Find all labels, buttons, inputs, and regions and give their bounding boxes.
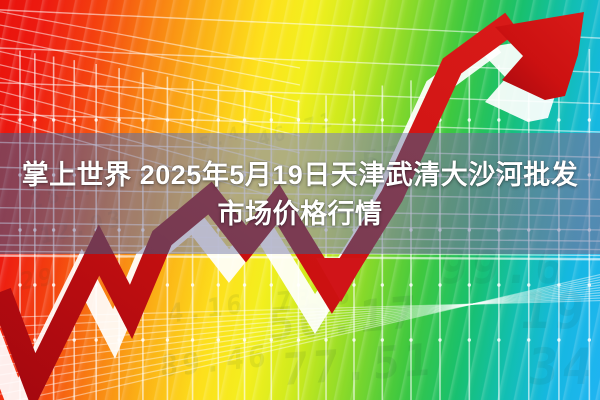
page-title: 掌上世界 2025年5月19日天津武清大沙河批发 市场价格行情 <box>0 156 600 234</box>
title-line-2: 市场价格行情 <box>14 195 586 234</box>
stock-market-banner: 50.1777.5189.464.1673.5193499.6.57283.45… <box>0 0 600 400</box>
title-line-1: 掌上世界 2025年5月19日天津武清大沙河批发 <box>14 156 586 195</box>
